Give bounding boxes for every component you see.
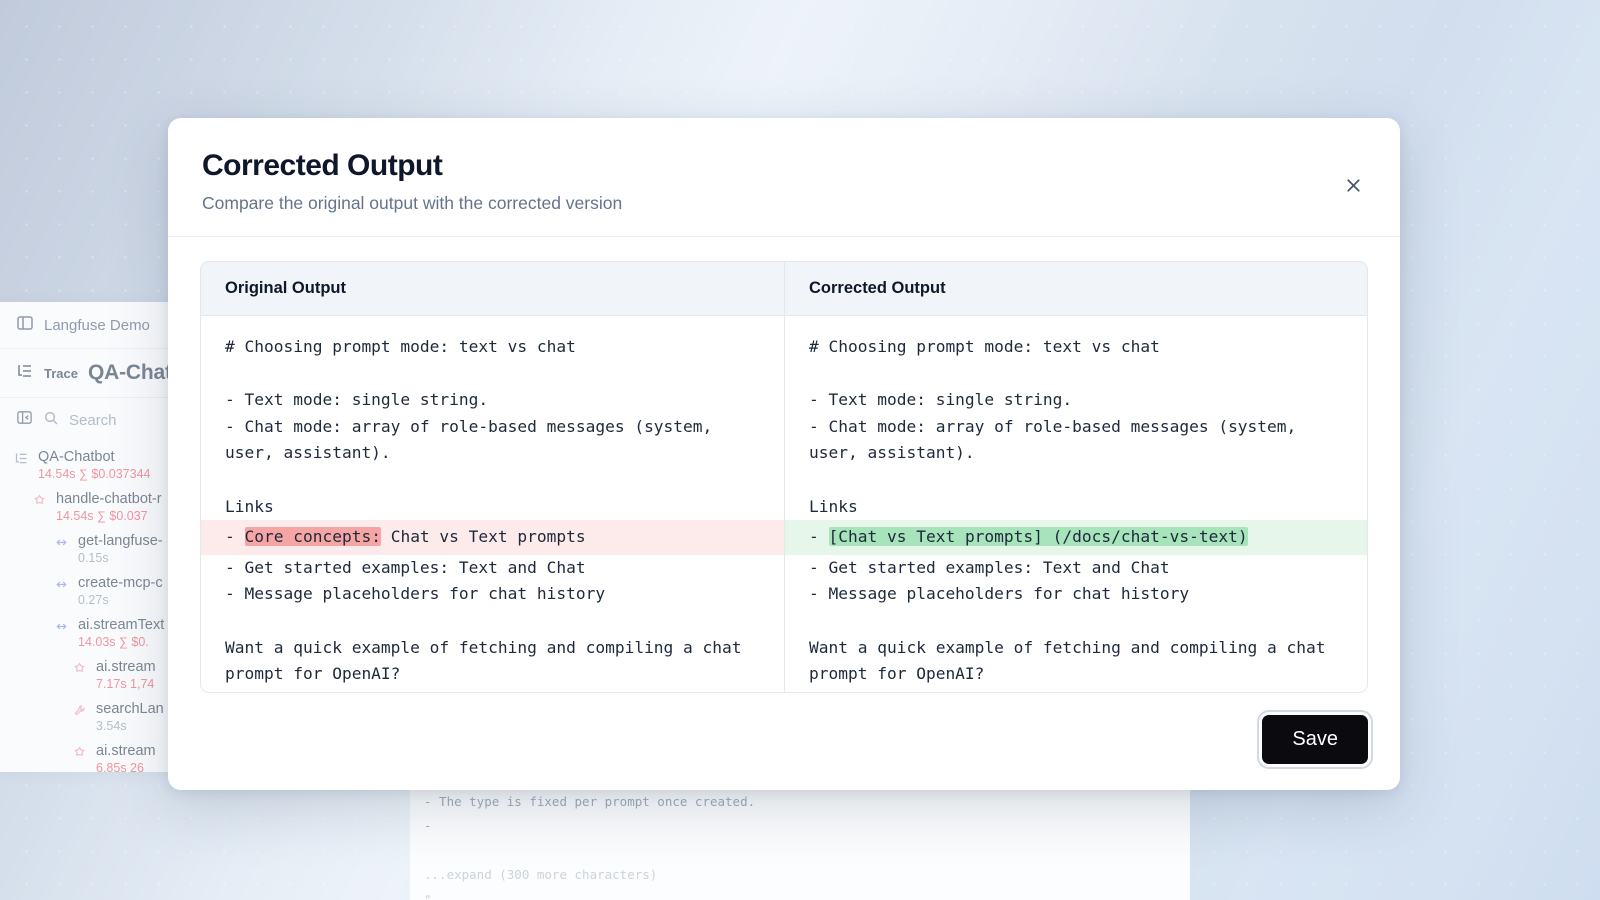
column-header-corrected: Corrected Output	[784, 262, 1367, 315]
diff-table-header: Original Output Corrected Output	[201, 262, 1367, 316]
corrected-output-dialog: Corrected Output Compare the original ou…	[168, 118, 1400, 790]
diff-line	[785, 467, 1367, 494]
save-button[interactable]: Save	[1262, 715, 1368, 764]
diff-line: # Choosing prompt mode: text vs chat	[785, 334, 1367, 361]
corrected-output-column: # Choosing prompt mode: text vs chat - T…	[784, 316, 1367, 693]
close-icon	[1344, 176, 1363, 198]
diff-line: - Get started examples: Text and Chat	[785, 555, 1367, 582]
diff-line: - Text mode: single string.	[201, 387, 784, 414]
dialog-body: Original Output Corrected Output # Choos…	[168, 237, 1400, 693]
diff-line: - Get started examples: Text and Chat	[201, 555, 784, 582]
diff-line	[785, 608, 1367, 635]
diff-line: - Chat mode: array of role-based message…	[201, 414, 784, 467]
diff-line: - Message placeholders for chat history	[785, 581, 1367, 608]
diff-line: - Chat mode: array of role-based message…	[785, 414, 1367, 467]
diff-line-added: - [Chat vs Text prompts] (/docs/chat-vs-…	[785, 520, 1367, 555]
diff-line: Links	[785, 494, 1367, 521]
diff-line	[201, 608, 784, 635]
column-header-original: Original Output	[201, 262, 784, 315]
page-title: Corrected Output	[202, 148, 1366, 184]
diff-line	[201, 361, 784, 388]
diff-line: Want a quick example of fetching and com…	[785, 635, 1367, 688]
diff-line: - Text mode: single string.	[785, 387, 1367, 414]
diff-line: - Message placeholders for chat history	[201, 581, 784, 608]
original-output-column: # Choosing prompt mode: text vs chat - T…	[201, 316, 784, 693]
diff-line: Links	[201, 494, 784, 521]
diff-table: Original Output Corrected Output # Choos…	[200, 261, 1368, 693]
close-button[interactable]	[1336, 170, 1370, 204]
diff-line-removed: - Core concepts: Chat vs Text prompts	[201, 520, 784, 555]
dialog-header: Corrected Output Compare the original ou…	[168, 118, 1400, 237]
diff-line	[785, 361, 1367, 388]
diff-line	[201, 467, 784, 494]
diff-inline-removed: Core concepts:	[245, 527, 381, 546]
diff-line: Want a quick example of fetching and com…	[201, 635, 784, 688]
diff-table-body: # Choosing prompt mode: text vs chat - T…	[201, 316, 1367, 693]
diff-inline-added: [Chat vs Text prompts] (/docs/chat-vs-te…	[829, 527, 1248, 546]
dialog-subtitle: Compare the original output with the cor…	[202, 193, 1366, 214]
dialog-footer: Save	[168, 693, 1400, 790]
diff-line: # Choosing prompt mode: text vs chat	[201, 334, 784, 361]
